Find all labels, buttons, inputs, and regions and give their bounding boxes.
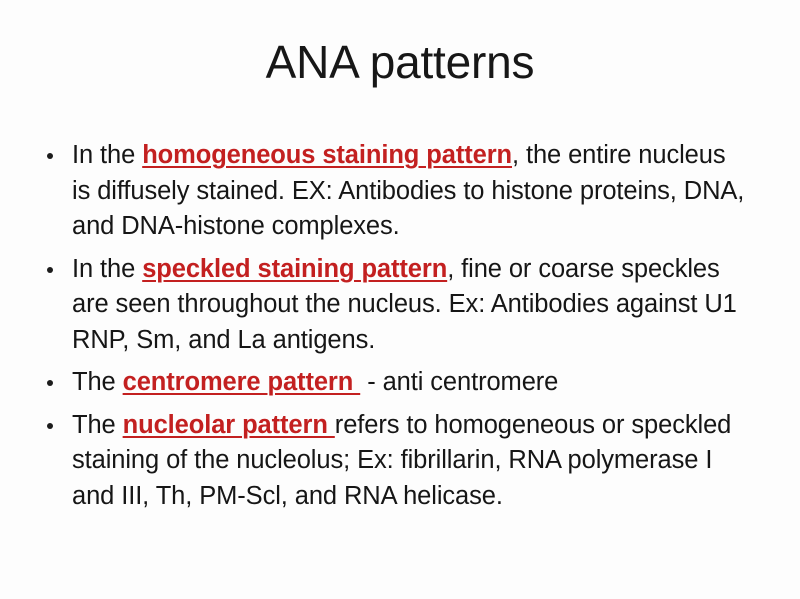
bullet-dot-icon bbox=[47, 267, 53, 273]
list-item: The centromere pattern - anti centromere bbox=[40, 365, 746, 401]
bullet-rest-text: - anti centromere bbox=[360, 368, 558, 396]
bullet-lead-text: The bbox=[72, 368, 123, 396]
bullet-lead-text: In the bbox=[72, 255, 142, 283]
bullet-lead-text: The bbox=[72, 411, 123, 439]
bullet-dot-icon bbox=[47, 153, 53, 159]
highlight-term: speckled staining pattern bbox=[142, 255, 447, 283]
list-item: In the speckled staining pattern, fine o… bbox=[40, 252, 746, 359]
highlight-term: homogeneous staining pattern bbox=[142, 141, 512, 169]
bullet-list: In the homogeneous staining pattern, the… bbox=[40, 138, 746, 514]
bullet-dot-icon bbox=[47, 423, 53, 429]
list-item: In the homogeneous staining pattern, the… bbox=[40, 138, 746, 245]
bullet-lead-text: In the bbox=[72, 141, 142, 169]
highlight-term: centromere pattern bbox=[123, 368, 361, 396]
highlight-term: nucleolar pattern bbox=[123, 411, 335, 439]
list-item: The nucleolar pattern refers to homogene… bbox=[40, 408, 746, 515]
page-title: ANA patterns bbox=[0, 38, 800, 86]
bullet-dot-icon bbox=[47, 380, 53, 386]
slide-canvas: ANA patterns In the homogeneous staining… bbox=[0, 0, 800, 599]
